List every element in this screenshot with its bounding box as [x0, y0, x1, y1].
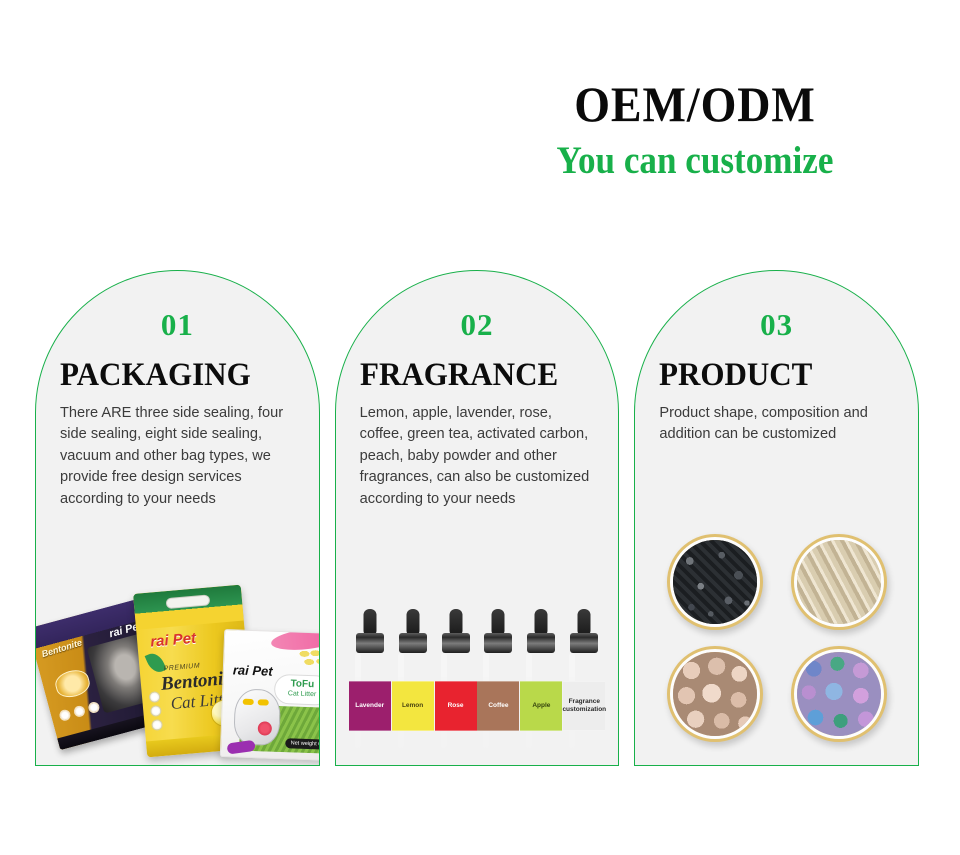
activated-carbon-swatch — [667, 534, 763, 630]
custom-bottle: Fragrance customization — [564, 609, 604, 753]
card-number: 03 — [635, 307, 918, 343]
dropper-bulb-icon — [406, 609, 419, 635]
dropper-bulb-icon — [535, 609, 548, 635]
coffee-bottle: Coffee — [478, 609, 518, 753]
feature-icon-row — [58, 701, 100, 722]
bottle-label: Apple — [520, 681, 562, 731]
page-header: OEM/ODM You can customize — [485, 78, 905, 183]
dropper-bulb-icon — [492, 609, 505, 635]
carbon-granule-texture — [673, 540, 757, 624]
cat-litter-label: Cat Litter — [288, 689, 317, 700]
swatch-inner — [670, 537, 760, 627]
feature-card-fragrance[interactable]: 02 FRAGRANCE Lemon, apple, lavender, ros… — [335, 270, 620, 766]
net-weight-tag: Net weight 6L — [286, 738, 320, 750]
bottle-label: Lemon — [392, 681, 434, 731]
colored-granule-texture — [797, 652, 881, 736]
tofu-pellet-texture — [797, 540, 881, 624]
dropper-bulb-icon — [449, 609, 462, 635]
purple-swoosh-graphic — [227, 740, 256, 755]
packaging-artwork: Bentonite rai Pet 10L rai Pet PREMIUM Be… — [36, 550, 319, 765]
card-number: 02 — [336, 307, 619, 343]
bottle-label: Coffee — [477, 681, 519, 731]
tofu-cat-litter-bag-white: rai Pet ToFu Cat Litter Net weight 6L — [220, 629, 320, 761]
bottle-label: Fragrance customization — [563, 681, 605, 731]
swatch-inner — [670, 649, 760, 739]
swatch-inner — [794, 649, 884, 739]
bottle-label: Lavender — [349, 681, 391, 731]
product-name-bubble: ToFu Cat Litter — [274, 674, 320, 706]
lemon-bottle: Lemon — [393, 609, 433, 753]
product-artwork — [655, 529, 898, 747]
dropper-bulb-icon — [578, 609, 591, 635]
bentonite-ball-texture — [673, 652, 757, 736]
feature-card-list: 01 PACKAGING There ARE three side sealin… — [35, 270, 919, 766]
apple-bottle: Apple — [521, 609, 561, 753]
bag-brand-text: rai Pet — [233, 662, 273, 678]
dropper-bulb-icon — [363, 609, 376, 635]
bentonite-ball-swatch — [667, 646, 763, 742]
wheat-sprig-icon — [298, 649, 320, 672]
card-number: 01 — [36, 307, 319, 343]
colored-granule-swatch — [791, 646, 887, 742]
card-body-text: Product shape, composition and addition … — [659, 403, 898, 446]
fragrance-artwork: Lavender Lemon Rose Coffee — [350, 601, 605, 753]
lavender-bottle: Lavender — [350, 609, 390, 753]
rose-bottle: Rose — [436, 609, 476, 753]
page-subtitle: You can customize — [506, 139, 884, 184]
bag-label-text: Bentonite — [40, 637, 83, 659]
cartoon-cat-icon — [233, 688, 281, 746]
quality-seal-icon — [53, 667, 93, 701]
tofu-pellet-swatch — [791, 534, 887, 630]
card-body-text: Lemon, apple, lavender, rose, coffee, gr… — [360, 403, 599, 510]
bottle-label: Rose — [435, 681, 477, 731]
feature-card-product[interactable]: 03 PRODUCT Product shape, composition an… — [634, 270, 919, 766]
feature-icon-row — [149, 691, 163, 731]
bag-brand-text: rai Pet — [150, 630, 197, 651]
card-heading: FRAGRANCE — [360, 357, 603, 394]
page-title: OEM/ODM — [502, 78, 888, 131]
card-body-text: There ARE three side sealing, four side … — [60, 403, 299, 510]
card-heading: PACKAGING — [60, 357, 303, 394]
card-heading: PRODUCT — [659, 357, 902, 394]
swatch-inner — [794, 537, 884, 627]
feature-card-packaging[interactable]: 01 PACKAGING There ARE three side sealin… — [35, 270, 320, 766]
